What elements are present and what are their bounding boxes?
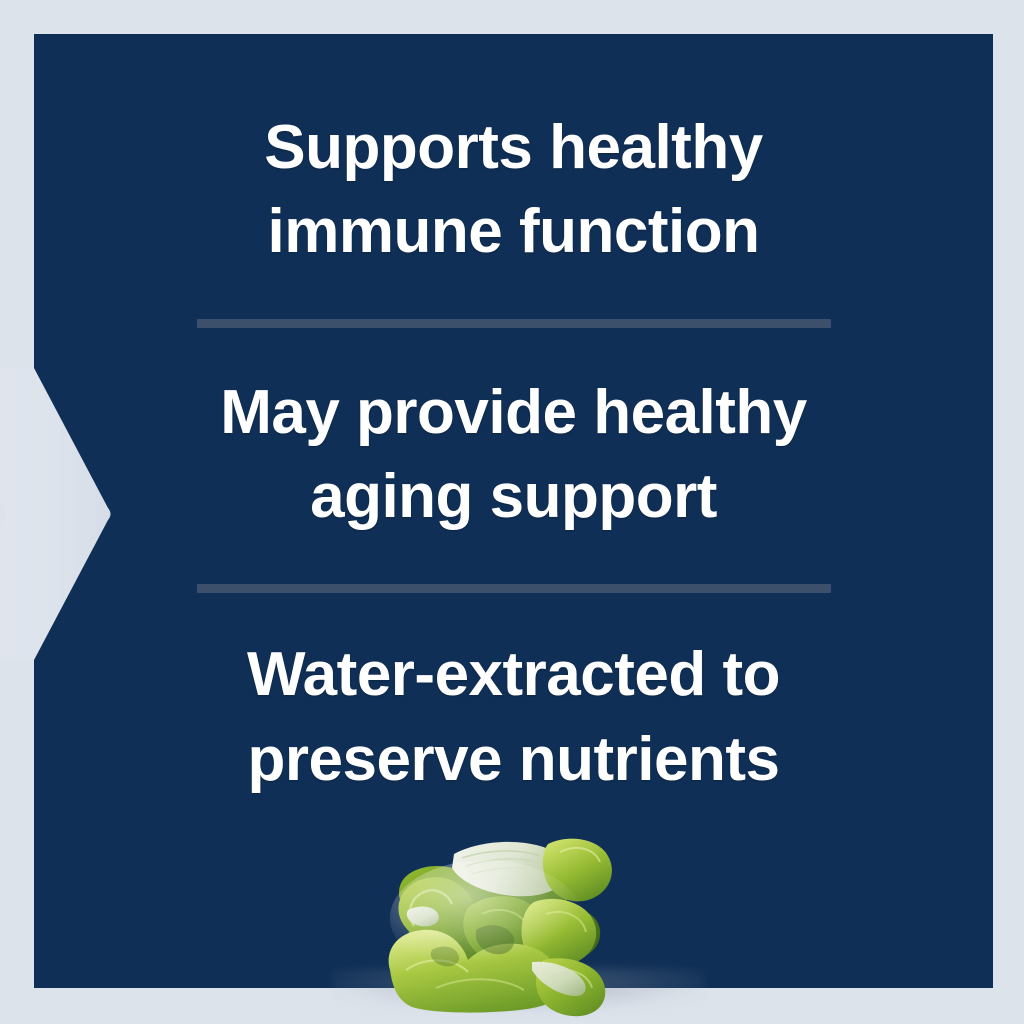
- benefit-item-water-extracted: Water-extracted to preserve nutrients: [34, 633, 993, 802]
- benefit-text-healthy-aging: May provide healthy aging support: [144, 371, 884, 540]
- benefit-item-immune-support: Supports healthy immune function: [34, 106, 993, 275]
- infographic-canvas: Supports healthy immune function May pro…: [0, 0, 1024, 1024]
- benefit-text-water-extracted: Water-extracted to preserve nutrients: [169, 633, 859, 802]
- benefit-text-immune-support: Supports healthy immune function: [194, 106, 834, 275]
- benefit-item-healthy-aging: May provide healthy aging support: [34, 371, 993, 540]
- vegetable-photo: [336, 810, 676, 1022]
- divider-rule-1: [197, 319, 831, 328]
- divider-rule-2: [197, 584, 831, 593]
